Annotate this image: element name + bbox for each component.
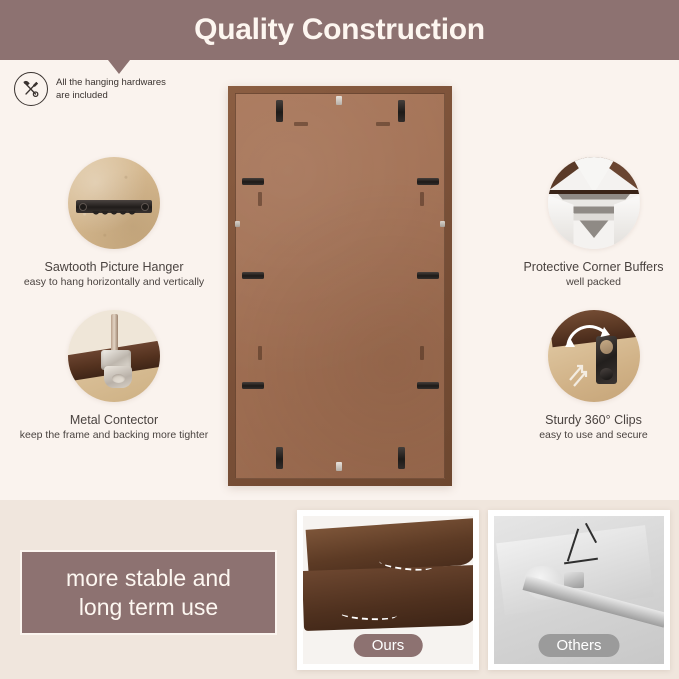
feature-sawtooth-title: Sawtooth Picture Hanger [0, 259, 228, 275]
table-row [276, 447, 283, 469]
feature-sawtooth-subtitle: easy to hang horizontally and vertically [0, 275, 228, 289]
table-row [242, 382, 264, 389]
promo-line1: more stable and [66, 564, 231, 593]
corner-buffer-photo [548, 157, 640, 249]
feature-360-clips-subtitle: easy to use and secure [508, 428, 679, 442]
table-row [420, 192, 424, 206]
table-row [440, 221, 445, 227]
center-hanging-pin [336, 96, 342, 105]
others-photo-inner: Others [494, 516, 664, 664]
bottom-center-pin [336, 462, 342, 471]
ours-label: Ours [354, 634, 423, 657]
comparison-photo-ours: Ours [297, 510, 479, 670]
metal-connector-plate [104, 366, 132, 388]
table-row [258, 192, 262, 206]
table-row [417, 178, 439, 185]
others-label: Others [538, 634, 619, 657]
bottom-comparison-section: more stable and long term use Ours [0, 500, 679, 679]
table-row [235, 221, 240, 227]
promo-line2: long term use [66, 593, 231, 622]
feature-corner-buffers-title: Protective Corner Buffers [508, 259, 679, 275]
infographic-page: Quality Construction All the hanging har… [0, 0, 679, 679]
table-row [420, 346, 424, 360]
table-row [242, 272, 264, 279]
frame-backing-board [235, 93, 445, 479]
feature-sawtooth: Sawtooth Picture Hanger easy to hang hor… [0, 157, 228, 289]
feature-360-clips-title: Sturdy 360° Clips [508, 412, 679, 428]
hanger-screw-hole-right [141, 203, 149, 211]
hardware-callout-line1: All the hanging hardwares [56, 76, 166, 89]
hardware-callout: All the hanging hardwares are included [14, 72, 166, 106]
table-row [417, 382, 439, 389]
table-row [417, 272, 439, 279]
hardware-callout-text: All the hanging hardwares are included [56, 76, 166, 102]
feature-metal-connector-subtitle: keep the frame and backing more tighter [0, 428, 228, 442]
comparison-photo-others: Others [488, 510, 670, 670]
feature-corner-buffers: Protective Corner Buffers well packed [508, 157, 679, 289]
table-row [398, 447, 405, 469]
picture-frame-back [228, 86, 452, 486]
feature-metal-connector: Metal Contector keep the frame and backi… [0, 310, 228, 442]
table-row [376, 122, 390, 126]
promo-text: more stable and long term use [66, 564, 231, 622]
table-row [398, 100, 405, 122]
header-banner: Quality Construction [0, 0, 679, 60]
hardware-callout-line2: are included [56, 89, 166, 102]
table-row [276, 100, 283, 122]
feature-360-clips: Sturdy 360° Clips easy to use and secure [508, 310, 679, 442]
ours-photo-inner: Ours [303, 516, 473, 664]
push-arrows-icon [548, 310, 640, 402]
feature-corner-buffers-subtitle: well packed [508, 275, 679, 289]
table-row [242, 178, 264, 185]
corner-white-wedge [572, 157, 616, 193]
sawtooth-hanger-photo [68, 157, 160, 249]
table-row [294, 122, 308, 126]
hanger-screw-hole-left [79, 203, 87, 211]
feature-metal-connector-title: Metal Contector [0, 412, 228, 428]
ours-frame-lower [303, 565, 473, 631]
tools-icon [14, 72, 48, 106]
table-row [258, 346, 262, 360]
promo-banner: more stable and long term use [20, 550, 277, 635]
metal-connector-photo [68, 310, 160, 402]
page-title: Quality Construction [194, 13, 485, 47]
rotating-clip-photo [548, 310, 640, 402]
